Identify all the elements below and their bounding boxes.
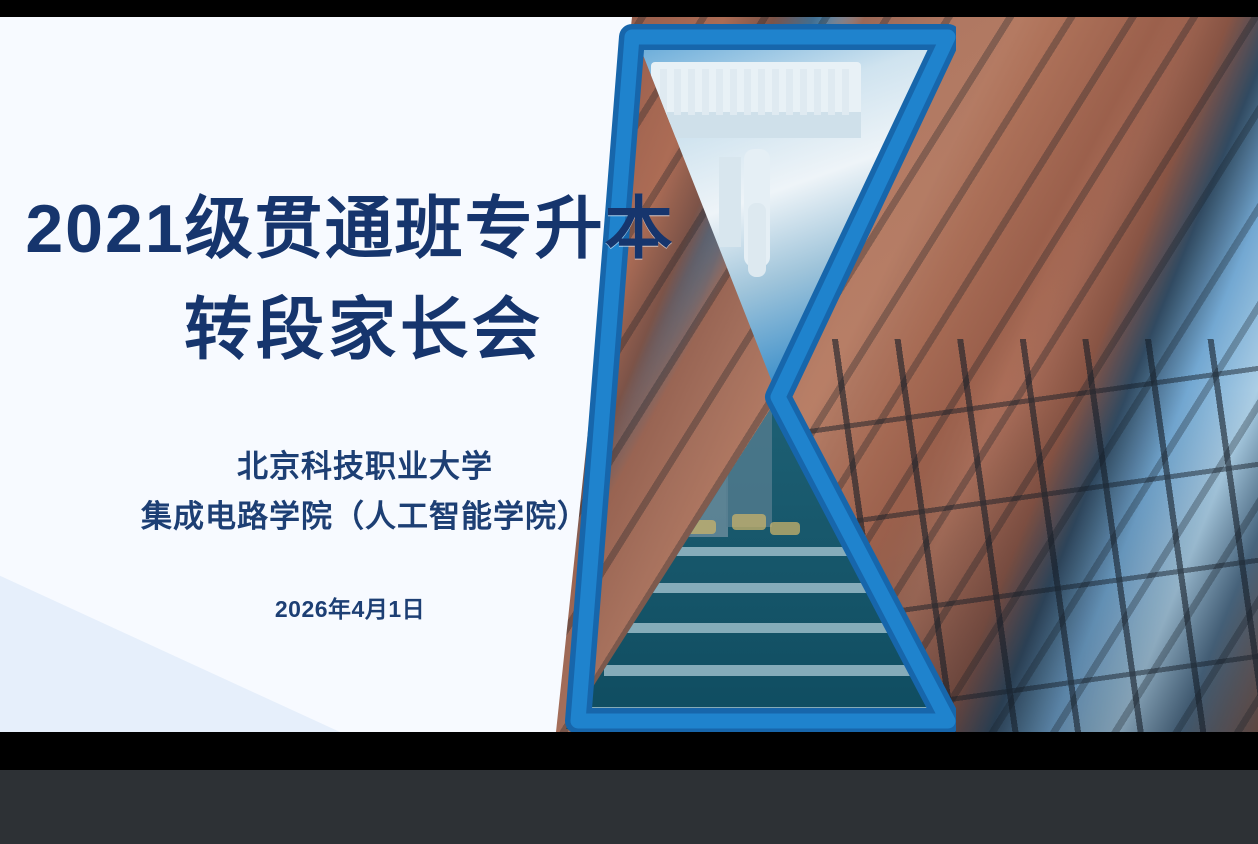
slide-date: 2026年4月1日 xyxy=(0,590,700,624)
slide-title: 2021级贯通班专升本 转段家长会 xyxy=(0,192,700,368)
viewer-backdrop xyxy=(0,770,1258,844)
organization-line-2: 集成电路学院（人工智能学院） xyxy=(0,492,730,542)
slide-canvas: 2021级贯通班专升本 转段家长会 北京科技职业大学 集成电路学院（人工智能学院… xyxy=(0,17,1258,732)
organization-block: 北京科技职业大学 集成电路学院（人工智能学院） xyxy=(0,442,730,542)
letterbox-bottom-bar xyxy=(0,732,1258,770)
pale-blue-corner-wedge xyxy=(0,562,340,732)
title-line-2: 转段家长会 xyxy=(0,293,700,368)
presentation-viewer: 2021级贯通班专升本 转段家长会 北京科技职业大学 集成电路学院（人工智能学院… xyxy=(0,0,1258,844)
blue-hourglass-frame xyxy=(556,17,956,732)
title-line-1: 2021级贯通班专升本 xyxy=(0,192,700,267)
organization-line-1: 北京科技职业大学 xyxy=(0,442,730,492)
letterbox-top-bar xyxy=(0,0,1258,17)
